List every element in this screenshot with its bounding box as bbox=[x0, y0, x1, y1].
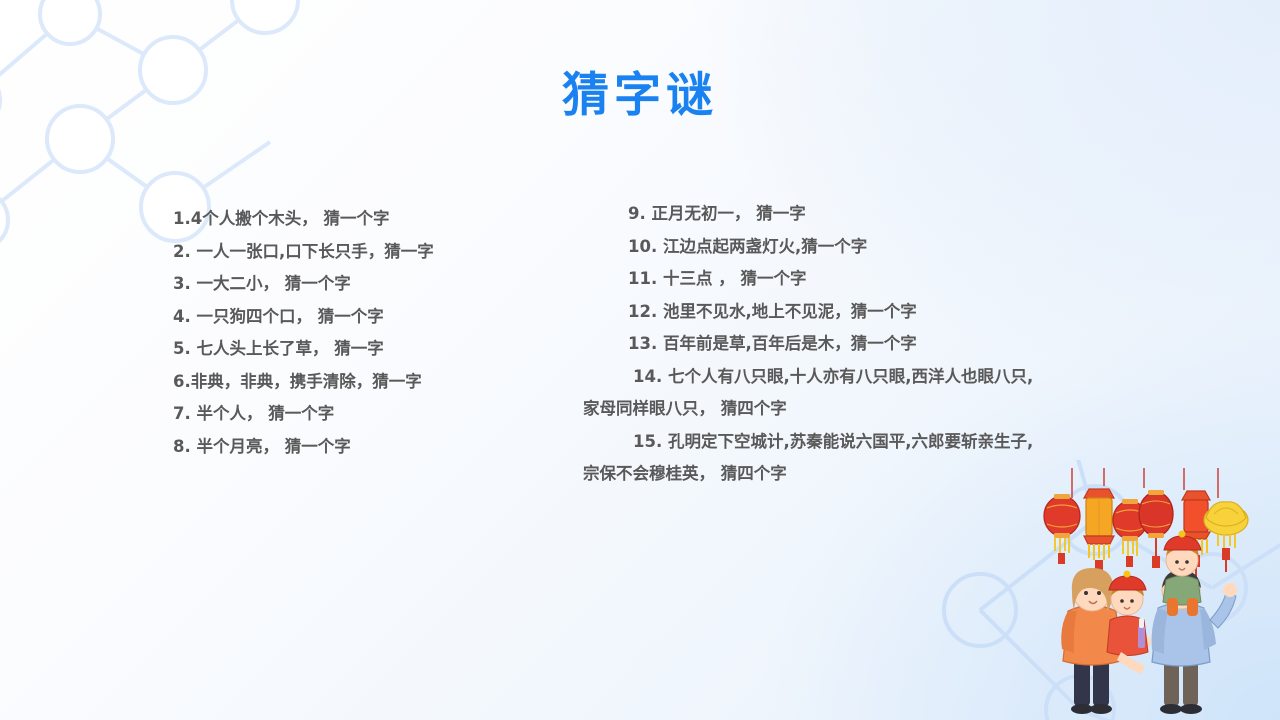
molecule-network-bottom-right-icon bbox=[920, 460, 1280, 720]
riddle-item: 10. 江边点起两盏灯火,猜一个字 bbox=[583, 231, 1043, 264]
lantern-icon bbox=[1204, 502, 1248, 572]
page-title: 猜字谜 bbox=[0, 56, 1280, 125]
riddle-item: 9. 正月无初一， 猜一字 bbox=[583, 198, 1043, 231]
riddle-item: 14. 七个人有八只眼,十人亦有八只眼,西洋人也眼八只,家母同样眼八只， 猜四个… bbox=[583, 361, 1043, 426]
family-with-lanterns-illustration bbox=[1026, 468, 1256, 718]
figure-father bbox=[1152, 570, 1237, 714]
riddle-item: 8. 半个月亮， 猜一个字 bbox=[173, 431, 573, 464]
lantern-icon bbox=[1113, 499, 1147, 567]
sparkler-icon bbox=[1138, 618, 1145, 648]
riddle-item: 5. 七人头上长了草， 猜一字 bbox=[173, 333, 573, 366]
riddle-item: 4. 一只狗四个口， 猜一个字 bbox=[173, 301, 573, 334]
riddle-item: 7. 半个人， 猜一个字 bbox=[173, 398, 573, 431]
lantern-icon bbox=[1044, 494, 1080, 564]
slide-canvas: 猜字谜 1.4个人搬个木头， 猜一个字 2. 一人一张口,口下长只手，猜一字 3… bbox=[0, 0, 1280, 720]
riddle-item: 6.非典，非典，携手清除，猜一字 bbox=[173, 366, 573, 399]
lantern-icon bbox=[1084, 489, 1114, 586]
riddle-item: 11. 十三点 ， 猜一个字 bbox=[583, 263, 1043, 296]
figure-child-on-shoulders bbox=[1163, 531, 1201, 617]
riddle-item: 13. 百年前是草,百年后是木，猜一个字 bbox=[583, 328, 1043, 361]
lantern-icon bbox=[1182, 491, 1210, 580]
riddle-item: 15. 孔明定下空城计,苏秦能说六国平,六郎要斩亲生子,宗保不会穆桂英， 猜四个… bbox=[583, 426, 1043, 491]
riddle-list-left: 1.4个人搬个木头， 猜一个字 2. 一人一张口,口下长只手，猜一字 3. 一大… bbox=[173, 203, 573, 463]
lantern-icon bbox=[1139, 490, 1173, 568]
riddle-item: 12. 池里不见水,地上不见泥，猜一个字 bbox=[583, 296, 1043, 329]
riddle-list-right: 9. 正月无初一， 猜一字 10. 江边点起两盏灯火,猜一个字 11. 十三点 … bbox=[583, 198, 1043, 491]
figure-toddler bbox=[1107, 571, 1148, 675]
riddle-item: 2. 一人一张口,口下长只手，猜一字 bbox=[173, 236, 573, 269]
figure-mother bbox=[1061, 568, 1151, 714]
riddle-item: 3. 一大二小， 猜一个字 bbox=[173, 268, 573, 301]
riddle-item: 1.4个人搬个木头， 猜一个字 bbox=[173, 203, 573, 236]
